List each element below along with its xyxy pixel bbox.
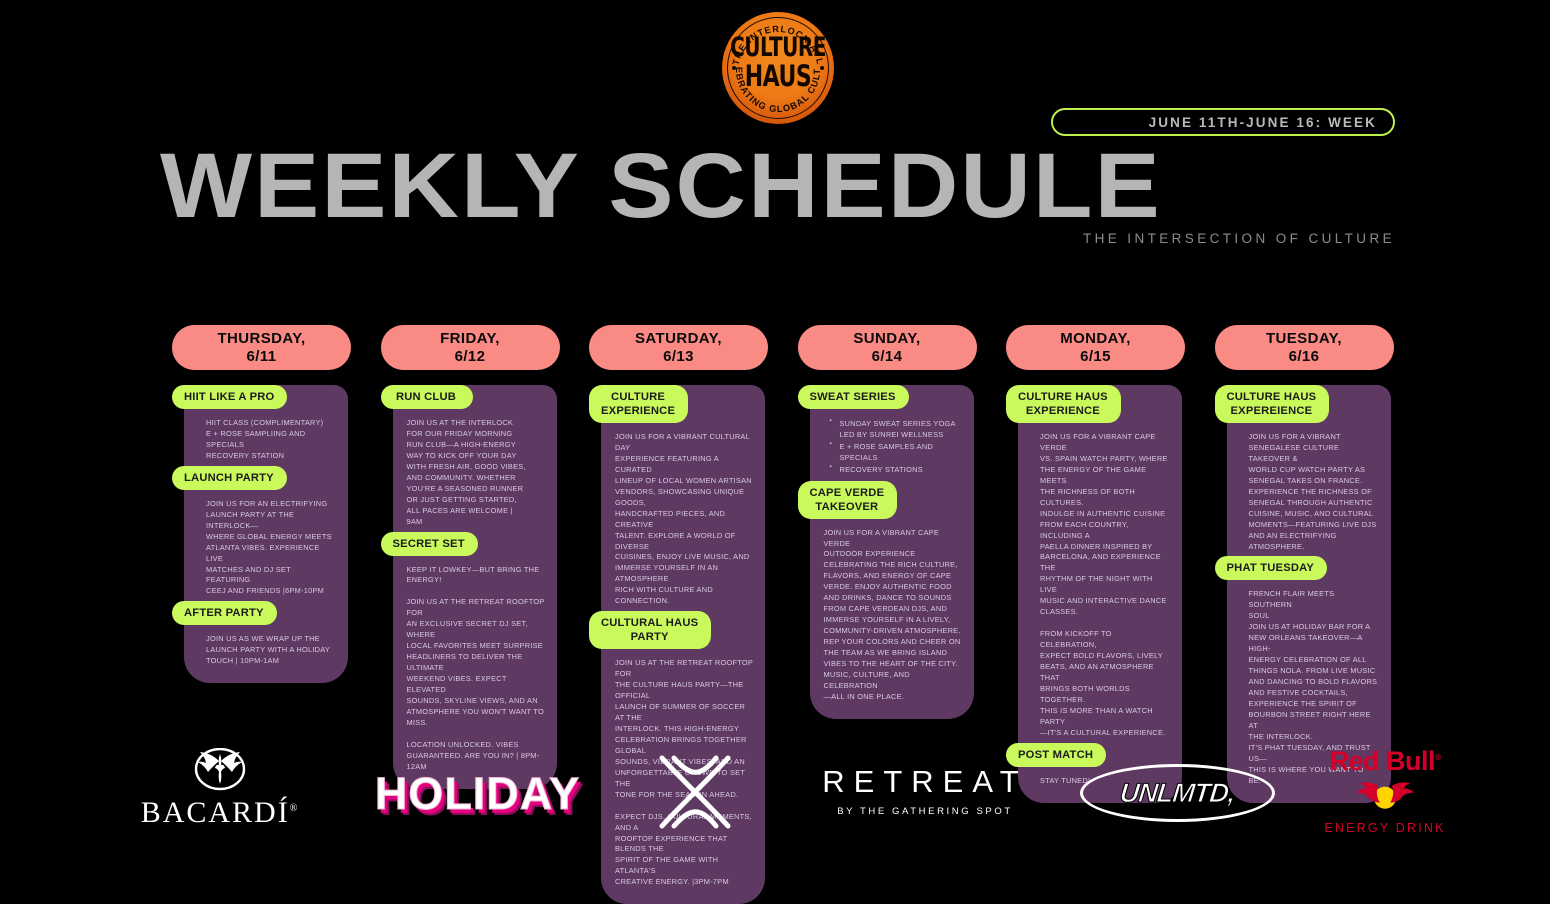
day-column: THURSDAY,6/11HIIT LIKE A PROHIIT CLASS (…: [172, 325, 351, 683]
redbull-label: Red Bull: [1330, 746, 1436, 776]
logo-line-2: HAUS: [722, 64, 834, 90]
event-title-pill[interactable]: PHAT TUESDAY: [1215, 556, 1328, 580]
retreat-subtitle: BY THE GATHERING SPOT: [800, 806, 1050, 817]
event-block: RUN CLUBJOIN US AT THE INTERLOCK FOR OUR…: [393, 385, 557, 532]
day-date: 6/11: [247, 348, 277, 365]
day-name: SUNDAY,: [853, 330, 920, 347]
day-header-friday[interactable]: FRIDAY,6/12: [381, 325, 560, 370]
day-header-saturday[interactable]: SATURDAY,6/13: [589, 325, 768, 370]
day-card: SWEAT SERIESSUNDAY SWEAT SERIES YOGA LED…: [810, 385, 974, 719]
event-title-pill[interactable]: SWEAT SERIES: [798, 385, 909, 409]
list-item: SUNDAY SWEAT SERIES YOGA LED BY SUNREI W…: [840, 418, 964, 440]
day-name: MONDAY,: [1060, 330, 1131, 347]
event-title-pill[interactable]: CAPE VERDE TAKEOVER: [798, 481, 898, 519]
list-item: RECOVERY STATIONS: [840, 464, 964, 475]
day-column: FRIDAY,6/12RUN CLUBJOIN US AT THE INTERL…: [381, 325, 560, 789]
sponsor-bacardi: BACARDÍ®: [130, 748, 310, 830]
event-block: CULTURE HAUS EXPERIENCEJOIN US FOR A VIB…: [1018, 385, 1182, 743]
event-block: SWEAT SERIESSUNDAY SWEAT SERIES YOGA LED…: [810, 385, 974, 481]
event-description: JOIN US FOR AN ELECTRIFYING LAUNCH PARTY…: [184, 490, 348, 602]
event-title-pill[interactable]: LAUNCH PARTY: [172, 466, 287, 490]
event-title-pill[interactable]: SECRET SET: [381, 532, 478, 556]
event-description: JOIN US FOR A VIBRANT CAPE VERDE OUTDOOR…: [810, 519, 974, 707]
event-title-pill[interactable]: AFTER PARTY: [172, 601, 277, 625]
day-date: 6/12: [455, 348, 486, 365]
day-column: TUESDAY,6/16CULTURE HAUS EXPEREIENCEJOIN…: [1215, 325, 1394, 803]
day-card: HIIT LIKE A PROHIIT CLASS (COMPLIMENTARY…: [184, 385, 348, 683]
logo-dot-left: [732, 66, 736, 70]
event-bullet-list: SUNDAY SWEAT SERIES YOGA LED BY SUNREI W…: [810, 409, 974, 481]
day-date: 6/15: [1080, 348, 1111, 365]
sponsor-unlmtd: UNLMTD,: [1080, 764, 1275, 824]
unlmtd-wordmark: UNLMTD,: [1119, 778, 1237, 809]
event-title-pill[interactable]: CULTURE HAUS EXPEREIENCE: [1215, 385, 1330, 423]
day-header-monday[interactable]: MONDAY,6/15: [1006, 325, 1185, 370]
event-description: JOIN US FOR A VIBRANT CULTURAL DAY EXPER…: [601, 423, 765, 611]
event-description: JOIN US FOR A VIBRANT SENEGALESE CULTURE…: [1227, 423, 1391, 556]
bacardi-trademark: ®: [290, 803, 300, 814]
day-card: RUN CLUBJOIN US AT THE INTERLOCK FOR OUR…: [393, 385, 557, 789]
page-tagline: THE INTERSECTION OF CULTURE: [1083, 231, 1395, 246]
day-header-tuesday[interactable]: TUESDAY,6/16: [1215, 325, 1394, 370]
sponsor-interlock-x: [640, 752, 750, 832]
redbull-bulls-icon: [1315, 779, 1455, 813]
event-block: CULTURE EXPERIENCEJOIN US FOR A VIBRANT …: [601, 385, 765, 611]
logo-bottom-arc-label: CELEBRATING GLOBAL CULTURE: [722, 12, 822, 114]
day-date: 6/14: [872, 348, 903, 365]
day-name: SATURDAY,: [635, 330, 722, 347]
bacardi-bat-icon: [183, 748, 257, 792]
event-title-pill[interactable]: RUN CLUB: [381, 385, 473, 409]
page-title: WEEKLY SCHEDULE: [160, 140, 1474, 232]
event-description: JOIN US AS WE WRAP UP THE LAUNCH PARTY W…: [184, 625, 348, 671]
sponsor-holiday: HOLIDAY: [345, 768, 610, 820]
logo-badge: THE INTERLOCK ATL CELEBRATING GLOBAL CUL…: [722, 12, 834, 124]
retreat-wordmark: RETREAT: [800, 764, 1050, 800]
day-column: MONDAY,6/15CULTURE HAUS EXPERIENCEJOIN U…: [1006, 325, 1185, 803]
logo-top-arc-label: THE INTERLOCK ATL: [731, 24, 826, 66]
logo-dot-right: [820, 66, 824, 70]
interlock-x-icon: [640, 752, 750, 832]
day-date: 6/13: [663, 348, 694, 365]
event-title-pill[interactable]: HIIT LIKE A PRO: [172, 385, 287, 409]
event-block: CULTURE HAUS EXPEREIENCEJOIN US FOR A VI…: [1227, 385, 1391, 556]
event-description: HIIT CLASS (COMPLIMENTARY) E + ROSE SAMP…: [184, 409, 348, 466]
unlmtd-oval-frame: UNLMTD,: [1080, 764, 1275, 822]
day-date: 6/16: [1289, 348, 1320, 365]
day-column: SUNDAY,6/14SWEAT SERIESSUNDAY SWEAT SERI…: [798, 325, 977, 719]
list-item: E + ROSE SAMPLES AND SPECIALS: [840, 441, 964, 463]
bacardi-label: BACARDÍ: [141, 796, 290, 829]
logo-arc-text: THE INTERLOCK ATL CELEBRATING GLOBAL CUL…: [722, 12, 834, 124]
logo-line-1: CULTURE: [722, 36, 834, 60]
week-date-label: JUNE 11TH-JUNE 16: WEEK: [1149, 115, 1377, 130]
day-name: TUESDAY,: [1266, 330, 1342, 347]
event-block: CAPE VERDE TAKEOVERJOIN US FOR A VIBRANT…: [810, 481, 974, 707]
culture-haus-logo: THE INTERLOCK ATL CELEBRATING GLOBAL CUL…: [722, 12, 834, 124]
event-title-pill[interactable]: CULTURE HAUS EXPERIENCE: [1006, 385, 1121, 423]
event-title-pill[interactable]: CULTURE EXPERIENCE: [589, 385, 688, 423]
sponsor-bar: BACARDÍ® HOLIDAY RETREAT BY THE GATHERIN…: [0, 740, 1550, 850]
event-description: JOIN US FOR A VIBRANT CAPE VERDE VS. SPA…: [1018, 423, 1182, 743]
sponsor-redbull: Red Bull® ENERGY DRINK: [1310, 746, 1460, 835]
event-block: HIIT LIKE A PROHIIT CLASS (COMPLIMENTARY…: [184, 385, 348, 466]
day-header-thursday[interactable]: THURSDAY,6/11: [172, 325, 351, 370]
event-description: JOIN US AT THE INTERLOCK FOR OUR FRIDAY …: [393, 409, 557, 532]
event-block: LAUNCH PARTYJOIN US FOR AN ELECTRIFYING …: [184, 466, 348, 602]
bacardi-wordmark: BACARDÍ®: [130, 796, 310, 830]
redbull-subtitle: ENERGY DRINK: [1310, 821, 1460, 835]
day-name: THURSDAY,: [217, 330, 305, 347]
sponsor-retreat: RETREAT BY THE GATHERING SPOT: [800, 764, 1050, 817]
event-block: AFTER PARTYJOIN US AS WE WRAP UP THE LAU…: [184, 601, 348, 671]
redbull-wordmark: Red Bull®: [1310, 746, 1460, 777]
holiday-wordmark: HOLIDAY: [345, 768, 610, 820]
redbull-trademark: ®: [1435, 753, 1440, 762]
week-date-badge: JUNE 11TH-JUNE 16: WEEK: [1051, 108, 1395, 136]
schedule-grid: THURSDAY,6/11HIIT LIKE A PROHIIT CLASS (…: [172, 325, 1397, 715]
event-title-pill[interactable]: CULTURAL HAUS PARTY: [589, 611, 711, 649]
day-header-sunday[interactable]: SUNDAY,6/14: [798, 325, 977, 370]
day-name: FRIDAY,: [440, 330, 500, 347]
logo-wordmark: CULTURE HAUS: [722, 39, 834, 87]
